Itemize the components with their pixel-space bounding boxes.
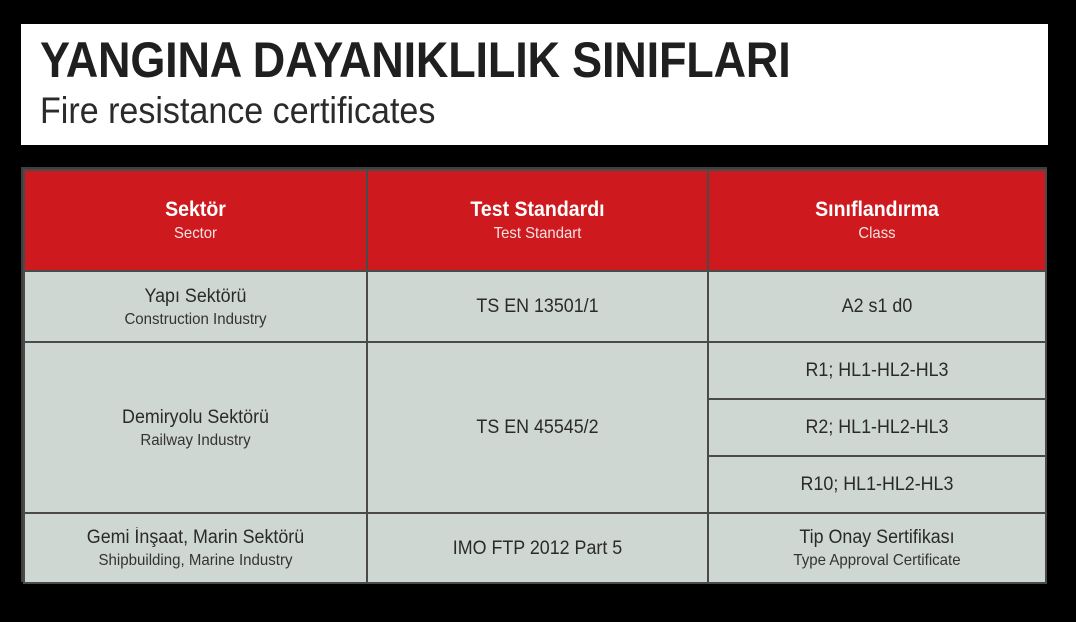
cell-sector-construction: Yapı Sektörü Construction Industry (24, 271, 367, 342)
fire-resistance-table: Sektör Sector Test Standardı Test Standa… (21, 167, 1047, 582)
class-value-tr: Tip Onay Sertifikası (725, 525, 1030, 550)
table-row: Demiryolu Sektörü Railway Industry TS EN… (24, 342, 1046, 399)
cell-class-marine: Tip Onay Sertifikası Type Approval Certi… (708, 513, 1046, 583)
cell-class-railway-3: R10; HL1-HL2-HL3 (708, 456, 1046, 513)
cell-standard-marine: IMO FTP 2012 Part 5 (367, 513, 708, 583)
column-header-class-en: Class (726, 223, 1027, 245)
class-value-en: Type Approval Certificate (725, 550, 1030, 571)
column-header-test-standard-tr: Test Standardı (385, 197, 689, 223)
class-value: A2 s1 d0 (725, 294, 1030, 319)
page-subtitle: Fire resistance certificates (40, 89, 967, 133)
cell-class-construction: A2 s1 d0 (708, 271, 1046, 342)
column-header-sector-en: Sector (43, 223, 349, 245)
cell-sector-railway: Demiryolu Sektörü Railway Industry (24, 342, 367, 513)
class-value: R2; HL1-HL2-HL3 (725, 415, 1030, 440)
table-body: Yapı Sektörü Construction Industry TS EN… (24, 271, 1046, 583)
cell-class-railway-2: R2; HL1-HL2-HL3 (708, 399, 1046, 456)
sector-name-en: Shipbuilding, Marine Industry (41, 550, 350, 571)
table-header: Sektör Sector Test Standardı Test Standa… (24, 170, 1046, 271)
page-title: YANGINA DAYANIKLILIK SINIFLARI (40, 31, 947, 89)
column-header-sector-tr: Sektör (43, 197, 349, 223)
certificates-table: Sektör Sector Test Standardı Test Standa… (23, 169, 1047, 584)
standard-value: IMO FTP 2012 Part 5 (384, 536, 691, 561)
cell-sector-marine: Gemi İnşaat, Marin Sektörü Shipbuilding,… (24, 513, 367, 583)
table-header-row: Sektör Sector Test Standardı Test Standa… (24, 170, 1046, 271)
cell-class-railway-1: R1; HL1-HL2-HL3 (708, 342, 1046, 399)
table-row: Gemi İnşaat, Marin Sektörü Shipbuilding,… (24, 513, 1046, 583)
sector-name-tr: Yapı Sektörü (41, 284, 350, 309)
table-row: Yapı Sektörü Construction Industry TS EN… (24, 271, 1046, 342)
class-value: R10; HL1-HL2-HL3 (725, 472, 1030, 497)
sector-name-tr: Demiryolu Sektörü (41, 405, 350, 430)
column-header-class: Sınıflandırma Class (708, 170, 1046, 271)
column-header-test-standard-en: Test Standart (385, 223, 689, 245)
sector-name-en: Construction Industry (41, 309, 350, 330)
standard-value: TS EN 13501/1 (384, 294, 691, 319)
cell-standard-railway: TS EN 45545/2 (367, 342, 708, 513)
sector-name-tr: Gemi İnşaat, Marin Sektörü (41, 525, 350, 550)
column-header-test-standard: Test Standardı Test Standart (367, 170, 708, 271)
sector-name-en: Railway Industry (41, 430, 350, 451)
cell-standard-construction: TS EN 13501/1 (367, 271, 708, 342)
class-value: R1; HL1-HL2-HL3 (725, 358, 1030, 383)
standard-value: TS EN 45545/2 (384, 415, 691, 440)
column-header-sector: Sektör Sector (24, 170, 367, 271)
title-banner: YANGINA DAYANIKLILIK SINIFLARI Fire resi… (21, 24, 1048, 145)
column-header-class-tr: Sınıflandırma (726, 197, 1027, 223)
